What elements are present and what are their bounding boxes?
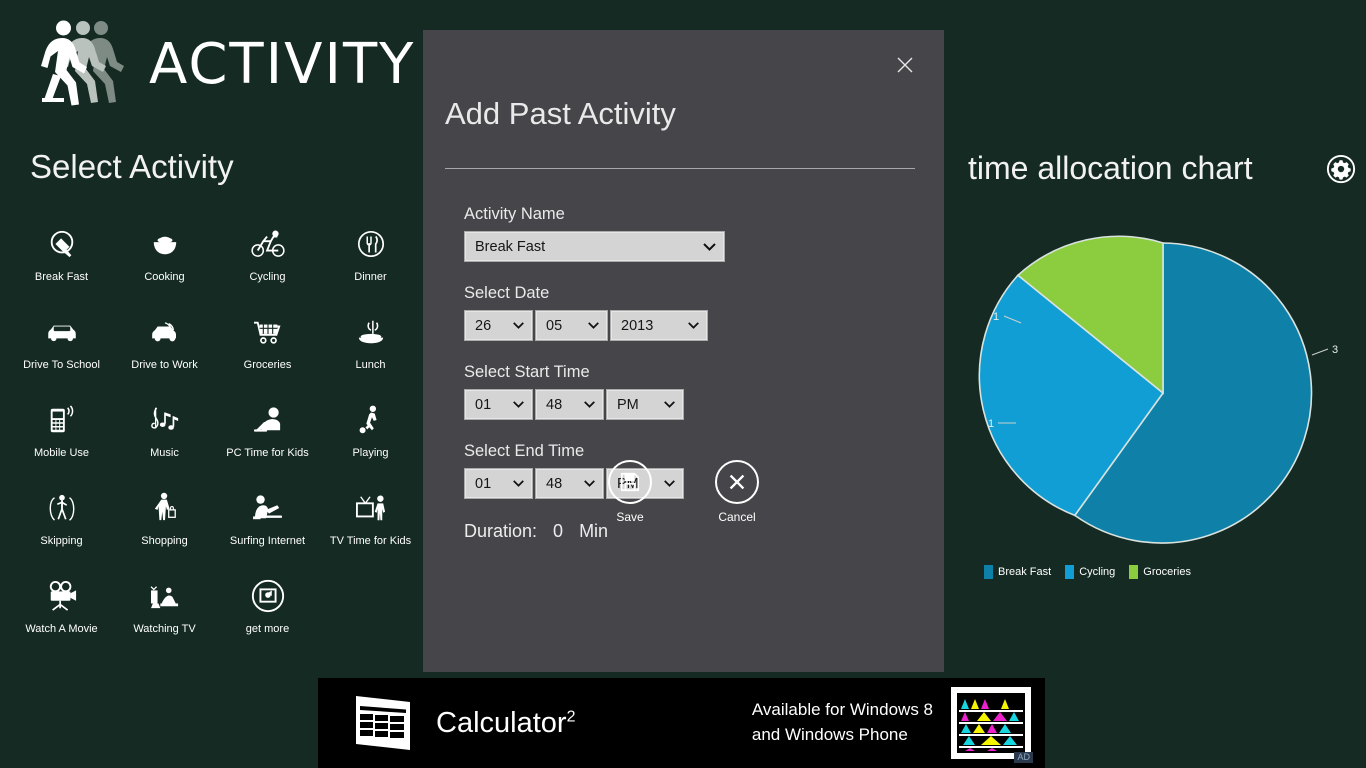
activity-tile-drive-to-work[interactable]: Drive to Work — [113, 310, 216, 398]
activity-label: Drive to Work — [131, 359, 197, 371]
legend-label: Cycling — [1079, 566, 1115, 578]
activity-tile-cycling[interactable]: Cycling — [216, 222, 319, 310]
car-icon — [38, 310, 86, 354]
gear-icon[interactable] — [1326, 154, 1356, 184]
field-label: Select End Time — [464, 442, 924, 461]
app-root: ACTIVITY Select Activity Break Fast — [0, 0, 1366, 768]
activity-label: Shopping — [141, 535, 188, 547]
activity-tile-drive-to-school[interactable]: Drive To School — [10, 310, 113, 398]
ad-product-name: Calculator2 — [436, 707, 575, 740]
cyclist-icon — [244, 222, 292, 266]
shopping-person-icon — [141, 486, 189, 530]
legend-item-groceries[interactable]: Groceries — [1129, 565, 1191, 579]
chart-legend: Break Fast Cycling Groceries — [984, 565, 1191, 579]
field-label: Select Start Time — [464, 363, 924, 382]
save-icon — [608, 460, 652, 504]
duration-row: Duration: 0 Min — [464, 521, 924, 542]
watching-tv-icon — [141, 574, 189, 618]
activity-label: Surfing Internet — [230, 535, 305, 547]
app-title: ACTIVITY — [149, 32, 415, 97]
start-time-select-group: 01 48 PM — [464, 389, 686, 420]
activity-tile-music[interactable]: Music — [113, 398, 216, 486]
activity-tile-surfing-internet[interactable]: Surfing Internet — [216, 486, 319, 574]
music-notes-icon — [141, 398, 189, 442]
start-minute-value: 48 — [546, 397, 562, 413]
app-header: ACTIVITY — [30, 14, 415, 114]
time-allocation-pie-chart: 3 1 1 — [960, 215, 1366, 570]
date-month-select[interactable]: 05 — [535, 310, 608, 341]
ad-thumbnail[interactable]: AD — [951, 687, 1031, 759]
save-button[interactable]: Save — [608, 460, 652, 524]
kid-at-computer-icon — [244, 398, 292, 442]
start-meridiem-select[interactable]: PM — [606, 389, 684, 420]
legend-item-break-fast[interactable]: Break Fast — [984, 565, 1051, 579]
activity-name-value: Break Fast — [475, 239, 545, 255]
ad-superscript: 2 — [567, 708, 576, 725]
activity-tile-skipping[interactable]: Skipping — [10, 486, 113, 574]
legend-item-cycling[interactable]: Cycling — [1065, 565, 1115, 579]
activity-tile-lunch[interactable]: Lunch — [319, 310, 422, 398]
date-day-value: 26 — [475, 318, 491, 334]
chevron-down-icon — [512, 400, 525, 409]
legend-swatch — [984, 565, 993, 579]
get-more-circle-icon — [244, 574, 292, 618]
activity-label: Watch A Movie — [25, 623, 97, 635]
shopping-cart-icon — [244, 310, 292, 354]
dialog-title: Add Past Activity — [445, 96, 676, 132]
field-label: Select Date — [464, 284, 924, 303]
chevron-down-icon — [512, 321, 525, 330]
start-hour-value: 01 — [475, 397, 491, 413]
chevron-down-icon — [702, 242, 717, 252]
activity-label: Break Fast — [35, 271, 88, 283]
person-laptop-icon — [244, 486, 292, 530]
ad-banner[interactable]: Calculator2 Available for Windows 8 and … — [318, 678, 1045, 768]
activity-tile-watch-a-movie[interactable]: Watch A Movie — [10, 574, 113, 662]
activity-tile-playing[interactable]: Playing — [319, 398, 422, 486]
activity-name-select[interactable]: Break Fast — [464, 231, 725, 262]
select-activity-heading: Select Activity — [30, 148, 234, 186]
activity-label: Mobile Use — [34, 447, 89, 459]
activity-tile-mobile-use[interactable]: Mobile Use — [10, 398, 113, 486]
field-select-start-time: Select Start Time 01 48 — [464, 363, 924, 420]
chevron-down-icon — [583, 400, 596, 409]
activity-label: Lunch — [356, 359, 386, 371]
activity-tile-tv-time-for-kids[interactable]: TV Time for Kids — [319, 486, 422, 574]
fork-knife-circle-icon — [347, 222, 395, 266]
mobile-phone-icon — [38, 398, 86, 442]
dialog-actions: Save Cancel — [423, 460, 944, 524]
chevron-down-icon — [587, 321, 600, 330]
pie-value-label: 1 — [988, 418, 994, 430]
date-year-value: 2013 — [621, 318, 653, 334]
cancel-icon — [715, 460, 759, 504]
legend-label: Break Fast — [998, 566, 1051, 578]
activity-tile-get-more[interactable]: get more — [216, 574, 319, 662]
bowl-icon — [141, 222, 189, 266]
ad-tagline: Available for Windows 8 and Windows Phon… — [752, 698, 933, 747]
playing-ball-icon — [347, 398, 395, 442]
activity-label: PC Time for Kids — [226, 447, 309, 459]
legend-label: Groceries — [1143, 566, 1191, 578]
save-label: Save — [616, 510, 643, 524]
car-wash-icon — [141, 310, 189, 354]
pie-value-label: 1 — [993, 311, 999, 323]
running-people-icon — [30, 14, 135, 114]
start-hour-select[interactable]: 01 — [464, 389, 533, 420]
date-day-select[interactable]: 26 — [464, 310, 533, 341]
date-year-select[interactable]: 2013 — [610, 310, 708, 341]
chevron-down-icon — [687, 321, 700, 330]
activity-tile-break-fast[interactable]: Break Fast — [10, 222, 113, 310]
activity-tile-dinner[interactable]: Dinner — [319, 222, 422, 310]
chevron-down-icon — [663, 400, 676, 409]
activity-tile-watching-tv[interactable]: Watching TV — [113, 574, 216, 662]
activity-tile-groceries[interactable]: Groceries — [216, 310, 319, 398]
pie-value-label: 3 — [1332, 344, 1338, 356]
activity-label: Playing — [352, 447, 388, 459]
duration-label: Duration: — [464, 521, 537, 542]
tv-kid-icon — [347, 486, 395, 530]
activity-label: Drive To School — [23, 359, 100, 371]
date-month-value: 05 — [546, 318, 562, 334]
activity-label: Cooking — [144, 271, 184, 283]
activity-tile-pc-time-for-kids[interactable]: PC Time for Kids — [216, 398, 319, 486]
add-past-activity-dialog: Add Past Activity Activity Name Break Fa… — [423, 30, 944, 672]
ad-badge: AD — [1014, 752, 1033, 763]
dialog-divider — [445, 168, 915, 169]
activity-label: Watching TV — [133, 623, 195, 635]
cancel-button[interactable]: Cancel — [715, 460, 759, 524]
close-icon[interactable] — [890, 50, 920, 80]
legend-swatch — [1129, 565, 1138, 579]
activity-label: Skipping — [40, 535, 82, 547]
ad-tagline-line1: Available for Windows 8 — [752, 698, 933, 723]
activity-label: Dinner — [354, 271, 386, 283]
ad-thumbnail-art — [957, 693, 1025, 753]
lunch-plate-icon — [347, 310, 395, 354]
calculator-icon — [348, 692, 418, 754]
ad-product-label: Calculator — [436, 707, 567, 739]
field-activity-name: Activity Name Break Fast — [464, 205, 924, 262]
ad-tagline-line2: and Windows Phone — [752, 723, 933, 748]
start-minute-select[interactable]: 48 — [535, 389, 604, 420]
activity-label: Cycling — [249, 271, 285, 283]
field-label: Activity Name — [464, 205, 924, 224]
activity-tile-cooking[interactable]: Cooking — [113, 222, 216, 310]
activity-label: get more — [246, 623, 289, 635]
activity-tile-shopping[interactable]: Shopping — [113, 486, 216, 574]
duration-unit: Min — [579, 521, 608, 542]
activity-label: Music — [150, 447, 179, 459]
movie-camera-icon — [38, 574, 86, 618]
chart-title: time allocation chart — [968, 150, 1253, 187]
activity-label: Groceries — [244, 359, 292, 371]
duration-value: 0 — [553, 521, 563, 542]
breakfast-icon — [38, 222, 86, 266]
legend-swatch — [1065, 565, 1074, 579]
activity-grid: Break Fast Cooking — [10, 222, 422, 662]
field-select-date: Select Date 26 05 — [464, 284, 924, 341]
date-select-group: 26 05 2013 — [464, 310, 710, 341]
activity-label: TV Time for Kids — [330, 535, 411, 547]
cancel-label: Cancel — [718, 510, 755, 524]
start-meridiem-value: PM — [617, 397, 639, 413]
skipping-rope-icon — [38, 486, 86, 530]
